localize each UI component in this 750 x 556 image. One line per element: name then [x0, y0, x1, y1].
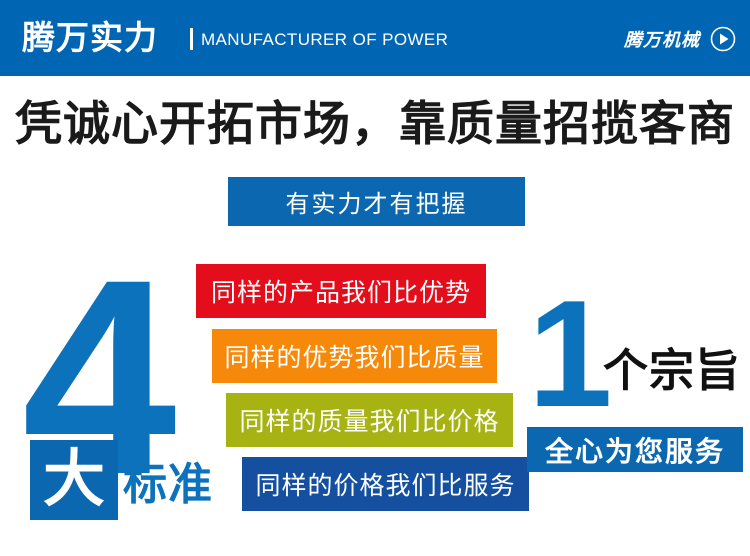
slogan-bar-4: 同样的价格我们比服务 — [242, 457, 529, 511]
da-badge: 大 — [30, 440, 118, 520]
standard-label: 标准 — [123, 460, 213, 510]
brand-name-cn: 腾万实力 — [22, 19, 158, 57]
promo-banner: 腾万实力 MANUFACTURER OF POWER 腾万机械 凭诚心开拓市场，… — [0, 0, 750, 556]
header-link-label: 腾万机械 — [624, 26, 700, 52]
slogan-bar-2: 同样的优势我们比质量 — [212, 329, 497, 383]
service-badge-label: 全心为您服务 — [545, 430, 725, 470]
sub-banner-label: 有实力才有把握 — [286, 184, 468, 219]
big-number-one: 1 — [528, 278, 610, 430]
slogan-bar-1-label: 同样的产品我们比优势 — [211, 273, 471, 309]
arrow-right-circle-icon[interactable] — [710, 26, 736, 52]
brand-divider — [190, 28, 193, 50]
slogan-bar-2-label: 同样的优势我们比质量 — [224, 338, 484, 374]
service-badge: 全心为您服务 — [527, 427, 743, 472]
sub-banner: 有实力才有把握 — [228, 177, 525, 226]
brand-tagline-en: MANUFACTURER OF POWER — [201, 29, 448, 50]
header-link[interactable]: 腾万机械 — [624, 26, 736, 52]
slogan-bar-4-label: 同样的价格我们比服务 — [255, 466, 515, 502]
slogan-bar-3: 同样的质量我们比价格 — [226, 393, 513, 447]
slogan-bar-1: 同样的产品我们比优势 — [196, 264, 486, 318]
slogan-bar-3-label: 同样的质量我们比价格 — [239, 402, 499, 438]
da-badge-label: 大 — [43, 449, 105, 511]
purpose-label: 个宗旨 — [603, 346, 741, 396]
page-title: 凭诚心开拓市场，靠质量招揽客商 — [0, 95, 750, 153]
header-bar: 腾万实力 MANUFACTURER OF POWER 腾万机械 — [0, 0, 750, 76]
